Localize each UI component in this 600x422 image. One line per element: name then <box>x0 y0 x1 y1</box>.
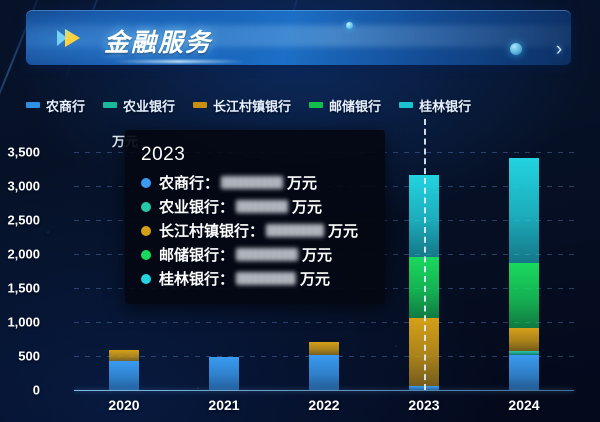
bar-segment[interactable] <box>509 263 539 328</box>
tooltip-row: 桂林银行：万元 <box>141 268 371 289</box>
tooltip-unit-label: 万元 <box>292 196 322 217</box>
x-axis-baseline <box>74 390 574 391</box>
tooltip-separator: ： <box>219 196 234 217</box>
page-title: 金融服务 <box>104 23 212 59</box>
x-axis-tick-label: 2021 <box>208 397 239 413</box>
tooltip-series-name: 长江村镇银行 <box>159 220 249 241</box>
y-axis-tick-label: 3,500 <box>0 145 40 160</box>
tooltip-separator: ： <box>219 268 234 289</box>
chart-gridline <box>74 322 574 323</box>
chevron-right-icon[interactable]: › <box>550 39 568 61</box>
header-bubble-decoration <box>346 22 353 29</box>
bar-segment[interactable] <box>109 350 139 361</box>
tooltip-unit-label: 万元 <box>300 268 330 289</box>
tooltip-series-name: 桂林银行 <box>159 268 219 289</box>
y-axis-tick-label: 1,000 <box>0 315 40 330</box>
y-axis-tick-label: 0 <box>0 383 40 398</box>
bar-segment[interactable] <box>509 328 539 350</box>
hover-indicator-line <box>424 119 426 390</box>
tooltip-series-value-redacted <box>266 224 324 237</box>
tooltip-unit-label: 万元 <box>302 244 332 265</box>
dashboard-panel: 金融服务 › 农商行农业银行长江村镇银行邮储银行桂林银行 万元 05001,00… <box>0 0 600 422</box>
tooltip-series-name: 农业银行 <box>159 196 219 217</box>
tooltip-series-dot-icon <box>141 250 151 260</box>
tooltip-row: 长江村镇银行：万元 <box>141 220 371 241</box>
bar-segment[interactable] <box>109 361 139 390</box>
bar-segment[interactable] <box>509 355 539 390</box>
bar-segment[interactable] <box>309 355 339 390</box>
tooltip-series-value-redacted <box>221 176 283 189</box>
x-axis-tick-label: 2020 <box>108 397 139 413</box>
bar-segment[interactable] <box>509 158 539 263</box>
tooltip-series-value-redacted <box>236 272 296 285</box>
tooltip-series-dot-icon <box>141 178 151 188</box>
tooltip-series-dot-icon <box>141 226 151 236</box>
tooltip-series-value-redacted <box>236 248 298 261</box>
y-axis-tick-label: 3,000 <box>0 179 40 194</box>
x-axis-tick-label: 2022 <box>308 397 339 413</box>
play-arrow-icon <box>56 27 90 49</box>
header-bubble-decoration <box>510 43 522 55</box>
tooltip-row: 农商行：万元 <box>141 172 371 193</box>
y-axis-tick-label: 1,500 <box>0 281 40 296</box>
tooltip-series-dot-icon <box>141 274 151 284</box>
bar-segment[interactable] <box>309 342 339 354</box>
tooltip-series-value-redacted <box>236 200 288 213</box>
tooltip-separator: ： <box>249 220 264 241</box>
tooltip-rows: 农商行：万元农业银行：万元长江村镇银行：万元邮储银行：万元桂林银行：万元 <box>141 172 371 289</box>
tooltip-row: 邮储银行：万元 <box>141 244 371 265</box>
tooltip-series-name: 农商行 <box>159 172 204 193</box>
tooltip-title: 2023 <box>141 144 371 166</box>
x-axis-tick-label: 2023 <box>408 397 439 413</box>
y-axis-tick-label: 2,000 <box>0 247 40 262</box>
tooltip-row: 农业银行：万元 <box>141 196 371 217</box>
panel-header: 金融服务 › <box>26 10 571 65</box>
y-axis-tick-label: 2,500 <box>0 213 40 228</box>
tooltip-series-name: 邮储银行 <box>159 244 219 265</box>
tooltip-series-dot-icon <box>141 202 151 212</box>
header-underglow-decoration <box>113 60 244 63</box>
bar-segment[interactable] <box>509 351 539 355</box>
x-axis-tick-label: 2024 <box>508 397 539 413</box>
bar-segment[interactable] <box>209 357 239 390</box>
tooltip-unit-label: 万元 <box>287 172 317 193</box>
y-axis-tick-label: 500 <box>0 349 40 364</box>
chart-tooltip: 2023 农商行：万元农业银行：万元长江村镇银行：万元邮储银行：万元桂林银行：万… <box>125 130 385 304</box>
tooltip-separator: ： <box>219 244 234 265</box>
tooltip-unit-label: 万元 <box>328 220 358 241</box>
tooltip-separator: ： <box>204 172 219 193</box>
